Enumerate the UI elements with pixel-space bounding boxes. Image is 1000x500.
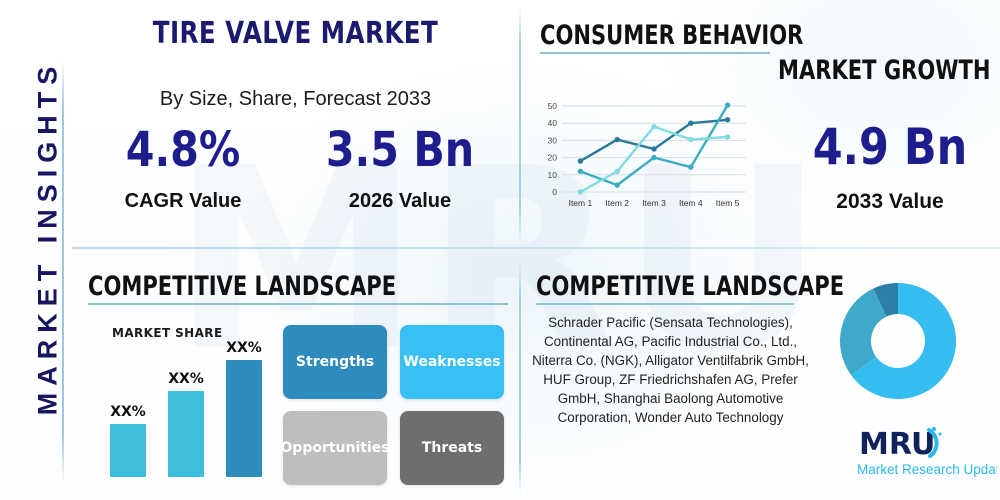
svg-text:0: 0 (552, 187, 557, 197)
swot-box-opportunities[interactable]: Opportunities (283, 411, 387, 485)
rail-divider-line (62, 60, 64, 485)
bar-value-label-2: XX% (160, 371, 212, 387)
market-share-label: MARKET SHARE (112, 326, 223, 340)
base-year-label: 2026 Value (310, 190, 490, 213)
svg-text:20: 20 (548, 153, 558, 163)
mru-logo: MRUMarket Research Update (855, 424, 997, 482)
section-underline-competitive-left (88, 303, 508, 305)
svg-text:50: 50 (548, 101, 558, 111)
section-title-competitive-landscape-right: COMPETITIVE LANDSCAPE (536, 271, 844, 302)
cagr-label: CAGR Value (98, 190, 268, 213)
vertical-divider-bottom (519, 262, 521, 494)
svg-text:MR: MR (859, 427, 912, 462)
svg-text:Item 4: Item 4 (679, 198, 703, 208)
donut-chart-svg (838, 281, 958, 401)
page-subtitle: By Size, Share, Forecast 2033 (72, 88, 519, 111)
horizontal-divider (72, 247, 1000, 249)
bar-1 (110, 424, 146, 477)
svg-text:Item 1: Item 1 (569, 198, 593, 208)
svg-text:Item 3: Item 3 (642, 198, 666, 208)
cagr-value: 4.8% (110, 122, 256, 178)
svg-text:Item 2: Item 2 (605, 198, 629, 208)
svg-text:40: 40 (548, 118, 558, 128)
forecast-year-value: 4.9 Bn (804, 118, 976, 176)
line-chart-svg: 01020304050Item 1Item 2Item 3Item 4Item … (536, 100, 752, 212)
base-year-value: 3.5 Bn (323, 122, 478, 178)
forecast-year-label: 2033 Value (790, 190, 990, 214)
page-title: TIRE VALVE MARKET (112, 16, 479, 51)
bar-2 (168, 391, 204, 477)
svg-text:30: 30 (548, 135, 558, 145)
swot-box-strengths[interactable]: Strengths (283, 325, 387, 399)
bar-value-label-1: XX% (102, 404, 154, 420)
svg-text:Item 5: Item 5 (716, 198, 740, 208)
infographic-canvas: MRU MARKET INSIGHTS TIRE VALVE MARKET By… (0, 0, 1000, 500)
consumer-behavior-line-chart: 01020304050Item 1Item 2Item 3Item 4Item … (536, 100, 752, 212)
bar-3 (226, 360, 262, 477)
svg-text:10: 10 (548, 170, 558, 180)
section-title-market-growth: MARKET GROWTH (778, 55, 991, 86)
market-insights-label: MARKET INSIGHTS (33, 48, 64, 428)
swot-box-threats[interactable]: Threats (400, 411, 504, 485)
vertical-divider-top (519, 8, 521, 244)
section-underline-consumer (540, 52, 770, 54)
mru-logo-svg: MRUMarket Research Update (855, 424, 997, 482)
section-title-competitive-landscape-left: COMPETITIVE LANDSCAPE (88, 271, 396, 302)
market-share-donut-chart (838, 281, 958, 401)
swot-box-weaknesses[interactable]: Weaknesses (400, 325, 504, 399)
company-list: Schrader Pacific (Sensata Technologies),… (528, 313, 813, 427)
bar-value-label-3: XX% (218, 340, 270, 356)
section-title-consumer-behavior: CONSUMER BEHAVIOR (540, 20, 803, 51)
section-underline-competitive-right (536, 303, 794, 305)
svg-text:Market Research Update: Market Research Update (857, 462, 997, 477)
